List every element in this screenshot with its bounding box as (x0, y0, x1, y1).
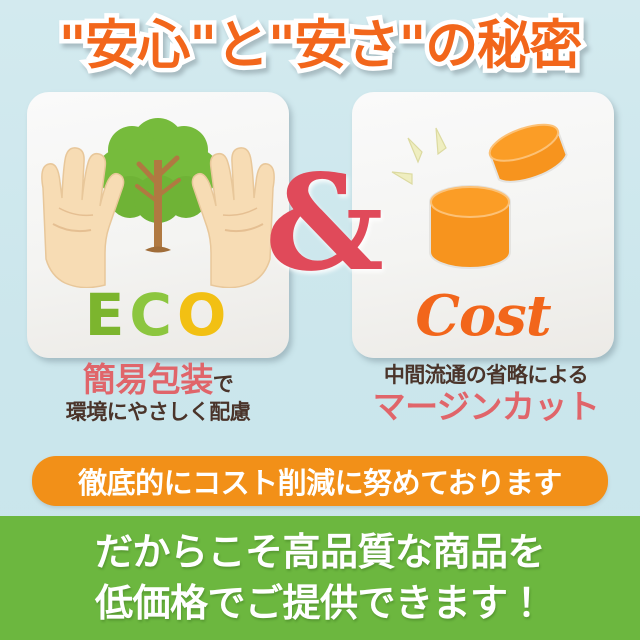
ampersand-symbol: & (265, 158, 377, 290)
cost-caption-sub: 中間流通の省略による (336, 362, 636, 388)
poster-title: "安心"と"安さ"の秘密 (59, 19, 581, 72)
eco-letter-o: O (177, 281, 231, 349)
cost-card: Cost (352, 92, 614, 358)
eco-letter-e: E (85, 281, 130, 349)
cost-caption-headline: マージンカット (336, 389, 636, 426)
closing-message-line-1: だからこそ高品質な商品を (95, 527, 545, 578)
eco-caption: 簡易包装で 環境にやさしく配慮 (8, 362, 308, 425)
eco-card: ECO (27, 92, 289, 358)
closing-message-line-2: 低価格でご提供できます！ (95, 578, 545, 629)
cost-label: Cost (352, 288, 614, 344)
eco-caption-sub: 環境にやさしく配慮 (8, 399, 308, 425)
eco-label: ECO (27, 286, 289, 344)
hands-holding-tree-icon (27, 98, 289, 288)
promo-poster: "安心"と"安さ"の秘密 (0, 0, 640, 640)
cost-label-text: Cost (415, 283, 550, 349)
closing-message-band: だからこそ高品質な商品を 低価格でご提供できます！ (0, 516, 640, 640)
cost-reduction-banner-text: 徹底的にコスト削減に努めております (78, 460, 562, 502)
poster-title-area: "安心"と"安さ"の秘密 (0, 8, 640, 82)
coin-stack-cut-icon (352, 98, 614, 288)
eco-caption-headline-suffix: で (213, 372, 234, 396)
eco-letter-c: C (129, 281, 177, 349)
cost-reduction-banner: 徹底的にコスト削減に努めております (32, 456, 608, 506)
eco-caption-headline-main: 簡易包装 (83, 360, 213, 399)
cost-caption: 中間流通の省略による マージンカット (336, 362, 636, 426)
eco-caption-headline: 簡易包装で (8, 362, 308, 399)
